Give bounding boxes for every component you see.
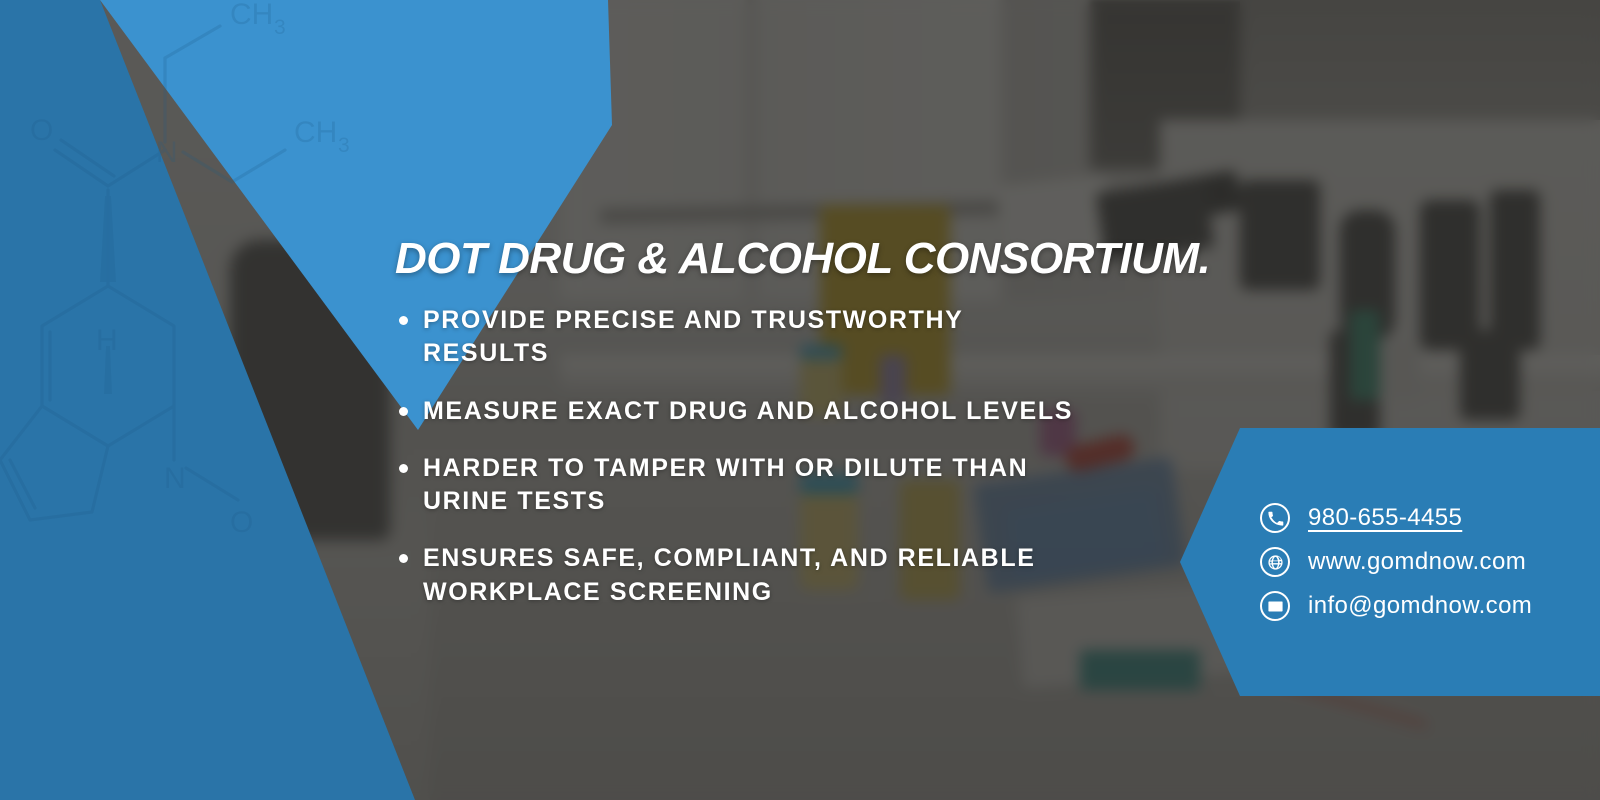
list-item: Harder to tamper with or dilute than uri…	[395, 452, 1075, 519]
molecule-label-ch3-right-sub: 3	[338, 134, 350, 157]
email-address[interactable]: info@gomdnow.com	[1308, 592, 1532, 620]
molecule-label-ch3-top: CH	[230, 0, 273, 31]
molecule-label-ch3-right: CH	[294, 116, 337, 149]
molecule-label-ch3-top-sub: 3	[274, 16, 286, 39]
contact-phone-row[interactable]: 980-655-4455	[1260, 503, 1600, 533]
phone-number[interactable]: 980-655-4455	[1308, 504, 1462, 532]
molecule-label-o: O	[30, 114, 53, 147]
molecule-label-n-bottom: N	[164, 462, 186, 495]
contact-website-row[interactable]: www.gomdnow.com	[1260, 547, 1600, 577]
list-item: Provide precise and trustworthy results	[395, 304, 1075, 371]
contact-email-row[interactable]: info@gomdnow.com	[1260, 591, 1600, 621]
molecule-watermark: O N CH 3 CH 3 H N O	[0, 0, 450, 630]
website-url[interactable]: www.gomdnow.com	[1308, 548, 1526, 576]
phone-icon	[1260, 503, 1290, 533]
molecule-label-o-bottom: O	[230, 506, 253, 539]
page-title: DOT DRUG & ALCOHOL CONSORTIUM.	[395, 236, 1355, 282]
molecule-label-h: H	[96, 324, 118, 357]
banner-canvas: O N CH 3 CH 3 H N O DOT DRUG & ALCOHOL C…	[0, 0, 1600, 800]
molecule-label-n-top: N	[156, 136, 178, 169]
list-item: Ensures safe, compliant, and reliable wo…	[395, 542, 1075, 609]
envelope-icon	[1260, 591, 1290, 621]
contact-panel: 980-655-4455 www.gomdnow.com info@gomdno…	[1180, 428, 1600, 696]
globe-icon	[1260, 547, 1290, 577]
list-item: Measure exact drug and alcohol levels	[395, 395, 1075, 428]
